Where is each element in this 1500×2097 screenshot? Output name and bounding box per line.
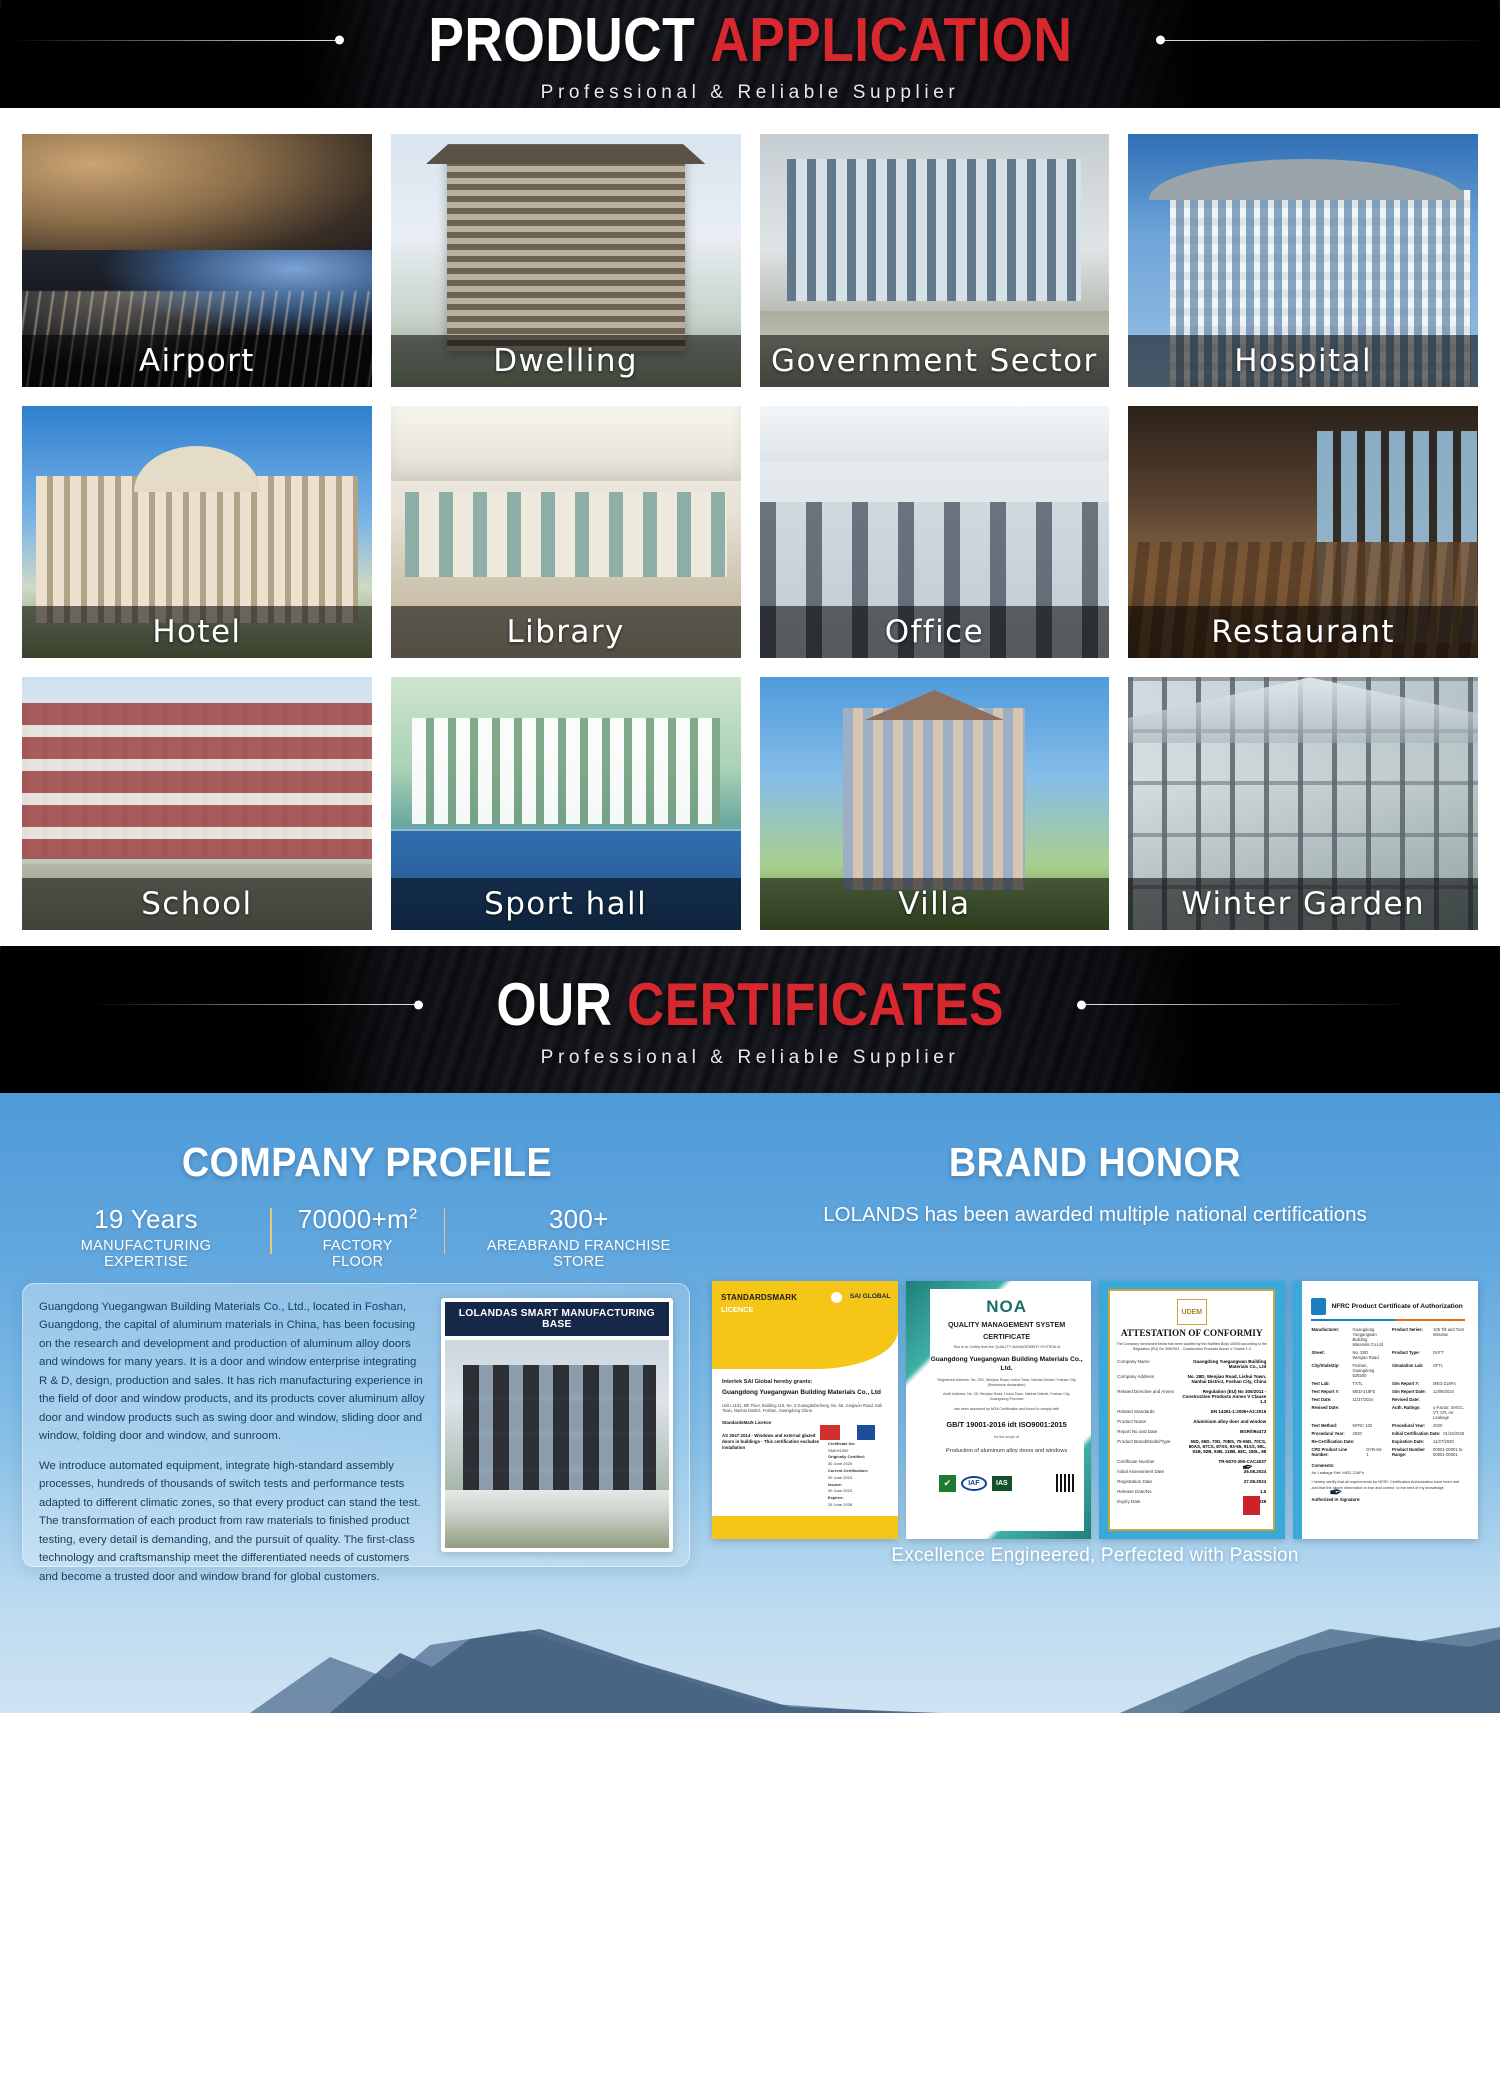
standardsmark-title: STANDARDSMARK — [721, 1293, 797, 1302]
nfrc-row-key: Product Number Range: — [1392, 1447, 1430, 1457]
noa-certify-line: This is to Certify that the QUALITY MANA… — [930, 1345, 1084, 1349]
company-address: Unit L1101, 9th Floor, Building 110, No.… — [722, 1403, 888, 1414]
standardsmark-subtitle: LICENCE — [721, 1305, 753, 1314]
cnas-badge-icon: ✔ — [939, 1475, 956, 1492]
certified-company: Guangdong Yuegangwan Building Materials … — [722, 1389, 888, 1398]
current-cert-value: 30 June 2023 — [828, 1475, 888, 1482]
nfrc-row-key: Test Method: — [1311, 1423, 1349, 1428]
udem-row-value: BGR/094473 — [1240, 1429, 1266, 1434]
nfrc-row-value: DYB-84-1 — [1366, 1447, 1384, 1457]
product-application-banner: PRODUCT APPLICATION Professional & Relia… — [0, 0, 1500, 108]
factory-photo-card: LOLANDAS SMART MANUFACTURING BASE — [441, 1298, 673, 1552]
banner-rule-left — [89, 1004, 419, 1005]
certificate-nfrc[interactable]: NFRC Product Certificate of Authorizatio… — [1293, 1281, 1479, 1539]
noa-title-line2: CERTIFICATE — [930, 1332, 1084, 1341]
standardsmark-header: STANDARDSMARK LICENCE SAI GLOBAL — [712, 1281, 898, 1369]
nfrc-row-value: DATT — [1433, 1350, 1444, 1360]
udem-row-key: Related Standards — [1117, 1409, 1154, 1414]
udem-red-seal-icon — [1243, 1496, 1260, 1515]
company-profile-card: Guangdong Yuegangwan Building Materials … — [22, 1283, 690, 1567]
nfrc-detail-row: Procedural Year:2020 — [1311, 1431, 1384, 1436]
nfrc-row-key: Test Lab: — [1311, 1381, 1349, 1386]
company-profile-heading: COMPANY PROFILE — [22, 1139, 712, 1186]
udem-row-value: 1.0 — [1260, 1489, 1266, 1494]
application-tile-caption: Restaurant — [1128, 606, 1478, 658]
stat-label: FACTORY FLOOR — [298, 1238, 418, 1270]
nfrc-row-value: 12/09/2024 — [1433, 1389, 1454, 1394]
title-word-primary: OUR — [496, 971, 612, 1038]
noa-conformity-line: has been assessed by NOA Certification a… — [930, 1407, 1084, 1411]
banner-rule-right — [1160, 40, 1490, 41]
expires-label: Expires: — [828, 1495, 844, 1500]
application-tile-caption: Dwelling — [391, 335, 741, 387]
rule-dot-left — [335, 36, 344, 45]
banner-title-row: OUR CERTIFICATES — [0, 970, 1500, 1039]
brand-honor-heading: BRAND HONOR — [712, 1139, 1478, 1186]
nfrc-row-value: No. 28D Wenjiao Road — [1352, 1350, 1384, 1360]
noa-body: NOA QUALITY MANAGEMENT SYSTEM CERTIFICAT… — [930, 1289, 1084, 1532]
cert-no-label: Certificate No: — [828, 1441, 855, 1446]
nfrc-row-value: u-Factor, SHGC, VT, CR, Air Leakage — [1433, 1405, 1465, 1420]
nfrc-row-key: Revised Date: — [1311, 1405, 1349, 1420]
nfrc-detail-row: Street:No. 28D Wenjiao Road — [1311, 1350, 1384, 1360]
stat-value: 70000+m2 — [298, 1204, 418, 1235]
nfrc-row-key: City/State/Zip: — [1311, 1363, 1349, 1378]
nfrc-detail-row: Auth. Ratings:u-Factor, SHGC, VT, CR, Ai… — [1392, 1405, 1465, 1420]
nfrc-detail-row: Sim Report #:MED-218Fa — [1392, 1381, 1465, 1386]
stat-value-superscript: 2 — [409, 1205, 418, 1222]
brand-honor-subtitle: LOLANDS has been awarded multiple nation… — [712, 1202, 1478, 1229]
company-profile-title: COMPANY PROFILE — [50, 1139, 685, 1186]
nfrc-detail-row: Manufacturer:Guangdong Yuegangwan Buildi… — [1311, 1327, 1384, 1347]
udem-detail-row: Related Directive and AnnexRegulation (E… — [1117, 1389, 1266, 1404]
nfrc-detail-row: Expiration Date:11/27/2029 — [1392, 1439, 1465, 1444]
issued-label: Issued: — [828, 1482, 842, 1487]
banner-title-row: PRODUCT APPLICATION — [0, 5, 1500, 76]
nfrc-comments: Air Leakage Ref: MED-218Fb — [1311, 1470, 1464, 1475]
cert-no-value: SMKH1500 — [828, 1448, 888, 1455]
udem-body: UDEM ATTESTATION OF CONFORMIY The Compan… — [1108, 1289, 1275, 1532]
banner-subtitle: Professional & Reliable Supplier — [541, 1047, 960, 1069]
application-tile[interactable]: Airport — [22, 134, 372, 387]
nfrc-detail-row: Test Date:11/27/2024 — [1311, 1397, 1384, 1402]
noa-audit-address: Audit Address: No. 28, Wenjiao Road, Lis… — [930, 1392, 1084, 1402]
stat-label: AREABRAND FRANCHISE STORE — [471, 1238, 686, 1270]
udem-row-value: 55D, 65D, 70D, 70BS, 75-55D, 70CS, 80AS,… — [1180, 1439, 1266, 1454]
nfrc-detail-row: Test Report #:MED-218Fb — [1311, 1389, 1384, 1394]
application-tile[interactable]: Villa — [760, 677, 1110, 930]
nfrc-row-key: Product Type: — [1392, 1350, 1430, 1360]
nfrc-detail-row: Procedural Year:2020 — [1392, 1423, 1465, 1428]
orig-cert-label: Originally Certified: — [828, 1454, 865, 1459]
company-profile-text: Guangdong Yuegangwan Building Materials … — [39, 1298, 427, 1552]
noa-registered-address: Registered Address: No. 29D, Wenjiao Roa… — [930, 1378, 1084, 1388]
udem-detail-row: Report No and DateBGR/094473 — [1117, 1429, 1266, 1434]
title-word-primary: PRODUCT — [428, 6, 695, 75]
certificate-standardsmark[interactable]: STANDARDSMARK LICENCE SAI GLOBAL Interte… — [712, 1281, 898, 1539]
page-title: PRODUCT APPLICATION — [428, 5, 1072, 76]
factory-caption: LOLANDAS SMART MANUFACTURING BASE — [445, 1302, 669, 1336]
nfrc-row-key: Test Report #: — [1311, 1389, 1349, 1394]
nfrc-detail-row: Initial Certification Date:01/15/2025 — [1392, 1431, 1465, 1436]
udem-detail-row: Company NameGuangdong Yuegangwan Buildin… — [1117, 1359, 1266, 1369]
nfrc-divider — [1311, 1319, 1464, 1321]
udem-row-key: Product Brand/Model/Type — [1117, 1439, 1170, 1454]
certificates-row: STANDARDSMARK LICENCE SAI GLOBAL Interte… — [712, 1281, 1478, 1539]
udem-detail-row: Product NameAluminium alloy door and win… — [1117, 1419, 1266, 1424]
nfrc-row-key: Re-Certification Date: — [1311, 1439, 1354, 1444]
udem-row-value: EN 14351-1:2006+A2:2016 — [1211, 1409, 1266, 1414]
nfrc-detail-row: Test Method:NFRC 102 — [1311, 1423, 1384, 1428]
application-tile-caption: Hotel — [22, 606, 372, 658]
nfrc-logo-icon — [1311, 1298, 1326, 1315]
nfrc-detail-row: Product Type:DATT — [1392, 1350, 1465, 1360]
nfrc-row-value: 105 Tilt and Turn Window — [1433, 1327, 1465, 1347]
udem-row-value: 27.08.2024 — [1244, 1479, 1267, 1484]
noa-company: Guangdong Yuegangwan Building Materials … — [930, 1356, 1084, 1373]
stat-value: 300+ — [471, 1204, 686, 1235]
nfrc-row-value: 01/15/2025 — [1443, 1431, 1464, 1436]
application-tile-caption: Hospital — [1128, 335, 1478, 387]
qr-code-icon — [1056, 1474, 1074, 1492]
noa-logo: NOA — [930, 1297, 1084, 1317]
noa-accreditation-badges: ✔ IAF IAS — [939, 1474, 1075, 1492]
banner-rule-right — [1081, 1004, 1411, 1005]
nfrc-row-key: Revised Date: — [1392, 1397, 1430, 1402]
udem-row-key: Expiry Date — [1117, 1499, 1140, 1504]
udem-row-key: Release Date/No — [1117, 1489, 1151, 1494]
banner-rule-left — [10, 40, 340, 41]
nfrc-row-value: NFRC 102 — [1352, 1423, 1372, 1428]
nfrc-row-value: 11/27/2024 — [1352, 1397, 1373, 1402]
nfrc-row-key: Auth. Ratings: — [1392, 1405, 1430, 1420]
nfrc-detail-row: CPD Product Line Number:DYB-84-1 — [1311, 1447, 1384, 1457]
nfrc-row-value: 00001-00001 to 00001-00001 — [1433, 1447, 1465, 1457]
nfrc-row-key: Manufacturer: — [1311, 1327, 1349, 1347]
sai-global-logo-icon — [831, 1292, 842, 1303]
nfrc-row-value: MED-218Fb — [1352, 1389, 1375, 1394]
nfrc-detail-row: Revised Date: — [1311, 1405, 1384, 1420]
udem-row-key: Company Address — [1117, 1374, 1154, 1384]
nfrc-row-key: Sim Report #: — [1392, 1381, 1430, 1386]
udem-row-key: Initial Assessment Date — [1117, 1469, 1164, 1474]
nfrc-detail-row: Product Series:105 Tilt and Turn Window — [1392, 1327, 1465, 1347]
noa-scope: Production of aluminum alloy doors and w… — [930, 1448, 1084, 1454]
ias-badge-icon: IAS — [992, 1476, 1012, 1491]
application-tile-caption: Office — [760, 606, 1110, 658]
current-cert-label: Current Certification: — [828, 1468, 868, 1473]
banner-subtitle: Professional & Reliable Supplier — [541, 82, 960, 104]
udem-detail-row: Product Brand/Model/Type55D, 65D, 70D, 7… — [1117, 1439, 1266, 1454]
udem-row-key: Report No and Date — [1117, 1429, 1157, 1434]
application-tile[interactable]: Sport hall — [391, 677, 741, 930]
stat-item: 300+AREABRAND FRANCHISE STORE — [445, 1204, 712, 1270]
application-tile[interactable]: Library — [391, 406, 741, 659]
nfrc-row-value: TXTL — [1352, 1381, 1362, 1386]
udem-detail-rows: Company NameGuangdong Yuegangwan Buildin… — [1117, 1359, 1266, 1504]
factory-building-photo — [445, 1340, 669, 1548]
application-tile[interactable]: Hospital — [1128, 134, 1478, 387]
standard-reference: AS 2047:2014 - Windows and external glaz… — [722, 1433, 825, 1451]
udem-row-key: Company Name — [1117, 1359, 1150, 1369]
licence-label: StandardsMark Licence — [722, 1420, 888, 1425]
application-tile[interactable]: School — [22, 677, 372, 930]
udem-intro: The Company mentioned below has been aud… — [1116, 1342, 1267, 1352]
red-stamp-icon — [820, 1425, 840, 1440]
application-tile[interactable]: Hotel — [22, 406, 372, 659]
application-tile-caption: Government Sector — [760, 335, 1110, 387]
certificates-title: OUR CERTIFICATES — [496, 970, 1004, 1039]
nfrc-row-value: 11/27/2029 — [1433, 1439, 1454, 1444]
title-word-accent: CERTIFICATES — [627, 971, 1004, 1038]
profile-paragraph-2: We introduce automated equipment, integr… — [39, 1457, 427, 1586]
nfrc-row-value: Foshan, Guangdong 528200 — [1352, 1363, 1384, 1378]
application-tile[interactable]: Dwelling — [391, 134, 741, 387]
noa-scope-label: for the scope of — [930, 1435, 1084, 1439]
udem-row-value: No. 28D, Wenjiao Road, Lishui Town, Nanh… — [1180, 1374, 1266, 1384]
application-tile[interactable]: Restaurant — [1128, 406, 1478, 659]
nfrc-detail-row: Product Number Range:00001-00001 to 0000… — [1392, 1447, 1465, 1457]
application-tile[interactable]: Winter Garden — [1128, 677, 1478, 930]
nfrc-detail-row: Simulation Lab:SFTL — [1392, 1363, 1465, 1378]
nfrc-row-value: 2020 — [1433, 1423, 1442, 1428]
sai-global-issuer: SAI GLOBAL — [850, 1293, 891, 1300]
nfrc-row-key: CPD Product Line Number: — [1311, 1447, 1363, 1457]
nfrc-row-key: Procedural Year: — [1311, 1431, 1349, 1436]
application-tile-caption: Winter Garden — [1128, 878, 1478, 930]
udem-row-key: Related Directive and Annex — [1117, 1389, 1174, 1404]
company-stats-row: 19 YearsMANUFACTURING EXPERTISE70000+m2F… — [22, 1204, 712, 1270]
brand-honor-column: BRAND HONOR LOLANDS has been awarded mul… — [712, 1093, 1478, 1713]
nfrc-row-key: Expiration Date: — [1392, 1439, 1430, 1444]
standardsmark-footer-bar — [712, 1516, 898, 1539]
stat-item: 70000+m2FACTORY FLOOR — [272, 1204, 444, 1270]
grant-line: Intertek SAI Global hereby grants: — [722, 1379, 888, 1385]
profile-paragraph-1: Guangdong Yuegangwan Building Materials … — [39, 1298, 427, 1446]
nfrc-row-key: Sim Report Date: — [1392, 1389, 1430, 1394]
nfrc-title: NFRC Product Certificate of Authorizatio… — [1331, 1303, 1462, 1310]
nfrc-detail-row: Test Lab:TXTL — [1311, 1381, 1384, 1386]
nfrc-row-key: Test Date: — [1311, 1397, 1349, 1402]
noa-title-line1: QUALITY MANAGEMENT SYSTEM — [930, 1320, 1084, 1329]
udem-row-value: Aluminium alloy door and window — [1193, 1419, 1266, 1424]
nfrc-row-value: Guangdong Yuegangwan Building Materials … — [1352, 1327, 1384, 1347]
application-tile[interactable]: Government Sector — [760, 134, 1110, 387]
application-tile-caption: Sport hall — [391, 878, 741, 930]
nfrc-header: NFRC Product Certificate of Authorizatio… — [1311, 1298, 1464, 1315]
certificate-noa[interactable]: NOA QUALITY MANAGEMENT SYSTEM CERTIFICAT… — [906, 1281, 1092, 1539]
blue-stamp-icon — [857, 1425, 875, 1440]
udem-row-value: Regulation (EU) No 305/2011 - Constructi… — [1180, 1389, 1266, 1404]
nfrc-row-key: Street: — [1311, 1350, 1349, 1360]
udem-detail-row: Registration Date27.08.2024 — [1117, 1479, 1266, 1484]
rule-dot-right — [1156, 36, 1165, 45]
udem-detail-row: Release Date/No1.0 — [1117, 1489, 1266, 1494]
nfrc-row-value: SFTL — [1433, 1363, 1443, 1378]
brand-honor-tagline: Excellence Engineered, Perfected with Pa… — [712, 1545, 1478, 1567]
udem-row-key: Certificate Number — [1117, 1459, 1155, 1464]
iaf-badge-icon: IAF — [961, 1476, 987, 1491]
our-certificates-banner: OUR CERTIFICATES Professional & Reliable… — [0, 946, 1500, 1093]
application-tile-caption: Villa — [760, 878, 1110, 930]
udem-title: ATTESTATION OF CONFORMIY — [1110, 1329, 1273, 1339]
nfrc-row-key: Initial Certification Date: — [1392, 1431, 1440, 1436]
certificate-udem[interactable]: UDEM ATTESTATION OF CONFORMIY The Compan… — [1099, 1281, 1285, 1539]
nfrc-row-key: Simulation Lab: — [1392, 1363, 1430, 1378]
udem-detail-row: Related StandardsEN 14351-1:2006+A2:2016 — [1117, 1409, 1266, 1414]
nfrc-body: NFRC Product Certificate of Authorizatio… — [1305, 1291, 1470, 1528]
udem-row-key: Registration Date — [1117, 1479, 1152, 1484]
noa-standard: GB/T 19001-2016 idt ISO9001:2015 — [930, 1420, 1084, 1429]
application-tile[interactable]: Office — [760, 406, 1110, 659]
application-tile-grid: AirportDwellingGovernment SectorHospital… — [0, 108, 1500, 930]
company-profile-section: COMPANY PROFILE 19 YearsMANUFACTURING EX… — [0, 1093, 1500, 1713]
application-tile-caption: Library — [391, 606, 741, 658]
title-word-accent: APPLICATION — [710, 6, 1072, 75]
udem-row-key: Product Name — [1117, 1419, 1146, 1424]
nfrc-detail-row: Re-Certification Date: — [1311, 1439, 1384, 1444]
rule-dot-right — [1077, 1000, 1086, 1009]
company-profile-column: COMPANY PROFILE 19 YearsMANUFACTURING EX… — [22, 1093, 712, 1713]
nfrc-row-value: MED-218Fa — [1433, 1381, 1456, 1386]
nfrc-row-key: Procedural Year: — [1392, 1423, 1430, 1428]
nfrc-signature: ✒ — [1328, 1482, 1344, 1503]
standardsmark-body: Intertek SAI Global hereby grants: Guang… — [722, 1379, 888, 1513]
stat-item: 19 YearsMANUFACTURING EXPERTISE — [22, 1204, 270, 1270]
udem-signature: ✒ — [1241, 1459, 1255, 1477]
nfrc-detail-grid: Manufacturer:Guangdong Yuegangwan Buildi… — [1311, 1327, 1464, 1457]
nfrc-left-accent-bar — [1293, 1281, 1302, 1539]
orig-cert-value: 30 June 2020 — [828, 1461, 888, 1468]
nfrc-row-value: 2020 — [1352, 1431, 1361, 1436]
expires-value: 29 June 2026 — [828, 1502, 888, 1509]
nfrc-detail-row: City/State/Zip:Foshan, Guangdong 528200 — [1311, 1363, 1384, 1378]
nfrc-comments-label: Comments: — [1311, 1463, 1464, 1468]
stat-label: MANUFACTURING EXPERTISE — [48, 1238, 244, 1270]
issued-value: 30 June 2023 — [828, 1488, 888, 1495]
nfrc-detail-row: Sim Report Date:12/09/2024 — [1392, 1389, 1465, 1394]
stat-value: 19 Years — [48, 1204, 244, 1235]
application-tile-caption: School — [22, 878, 372, 930]
application-tile-caption: Airport — [22, 335, 372, 387]
udem-detail-row: Company AddressNo. 28D, Wenjiao Road, Li… — [1117, 1374, 1266, 1384]
nfrc-detail-row: Revised Date: — [1392, 1397, 1465, 1402]
rule-dot-left — [414, 1000, 423, 1009]
udem-logo-icon: UDEM — [1177, 1299, 1207, 1325]
udem-row-value: Guangdong Yuegangwan Building Materials … — [1180, 1359, 1266, 1369]
section-spacer — [0, 930, 1500, 946]
brand-honor-title: BRAND HONOR — [743, 1139, 1448, 1186]
nfrc-row-key: Product Series: — [1392, 1327, 1430, 1347]
